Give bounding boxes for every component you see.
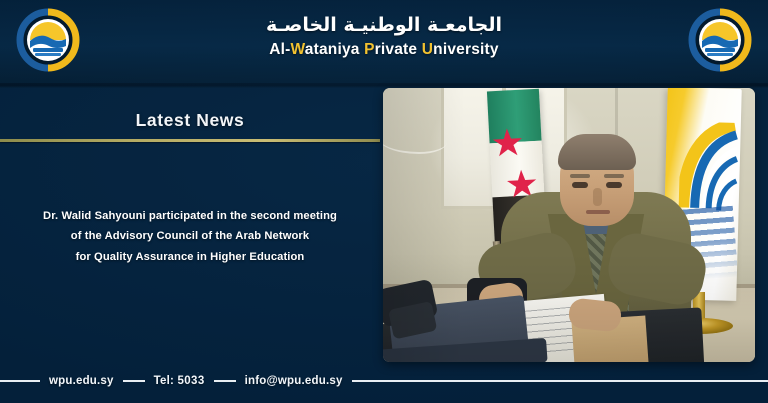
news-headline-line: of the Advisory Council of the Arab Netw…: [8, 226, 372, 246]
footer-telephone-label: Tel:: [154, 375, 174, 387]
title-arabic: الجامعـة الوطنيـة الخاصـة: [0, 14, 768, 38]
floor-cable: [383, 124, 447, 154]
footer-telephone[interactable]: Tel: 5033: [145, 375, 214, 387]
footer-email[interactable]: info@wpu.edu.sy: [236, 375, 352, 387]
eye-left: [572, 182, 588, 188]
university-logo-right: [688, 8, 752, 72]
footer-rule-left: [0, 380, 40, 382]
photo-content: [383, 88, 755, 362]
title-english-part-0: Al-: [269, 41, 290, 58]
title-english: Al-Wataniya Private University: [0, 41, 768, 59]
nose: [593, 188, 602, 206]
desk-phone: [383, 279, 438, 328]
footer-rule-mid-1: [123, 380, 145, 382]
title-english-part-6: niversity: [433, 41, 499, 58]
footer-rule-mid-2: [214, 380, 236, 382]
banner-logo-icon: [678, 121, 738, 214]
eyebrow-right: [604, 174, 624, 178]
heading-underline-rule: [0, 139, 380, 142]
news-photo: [383, 88, 755, 362]
footer-telephone-number: 5033: [177, 375, 204, 387]
news-headline: Dr. Walid Sahyouni participated in the s…: [8, 206, 372, 267]
section-heading-latest-news: Latest News: [0, 110, 380, 131]
title-english-part-2: ataniya: [305, 41, 364, 58]
footer-contact-row: wpu.edu.sy Tel: 5033 info@wpu.edu.sy: [0, 375, 768, 387]
person-hand-right: [568, 297, 623, 332]
title-english-part-5: U: [422, 41, 433, 58]
title-english-part-1: W: [291, 41, 305, 58]
eyebrow-left: [570, 174, 590, 178]
footer-rule-right: [352, 380, 768, 382]
footer: wpu.edu.sy Tel: 5033 info@wpu.edu.sy: [0, 363, 768, 403]
title-english-part-3: P: [364, 41, 375, 58]
footer-website[interactable]: wpu.edu.sy: [40, 375, 123, 387]
mouth: [586, 210, 610, 214]
eye-right: [606, 182, 622, 188]
person-hair: [558, 134, 636, 170]
news-headline-line: for Quality Assurance in Higher Educatio…: [8, 247, 372, 267]
person-head: [560, 138, 634, 226]
title-english-part-4: rivate: [375, 41, 422, 58]
news-banner: الجامعـة الوطنيـة الخاصـة Al-Wataniya Pr…: [0, 0, 768, 403]
header-titles: الجامعـة الوطنيـة الخاصـة Al-Wataniya Pr…: [0, 14, 768, 59]
news-headline-line: Dr. Walid Sahyouni participated in the s…: [8, 206, 372, 226]
